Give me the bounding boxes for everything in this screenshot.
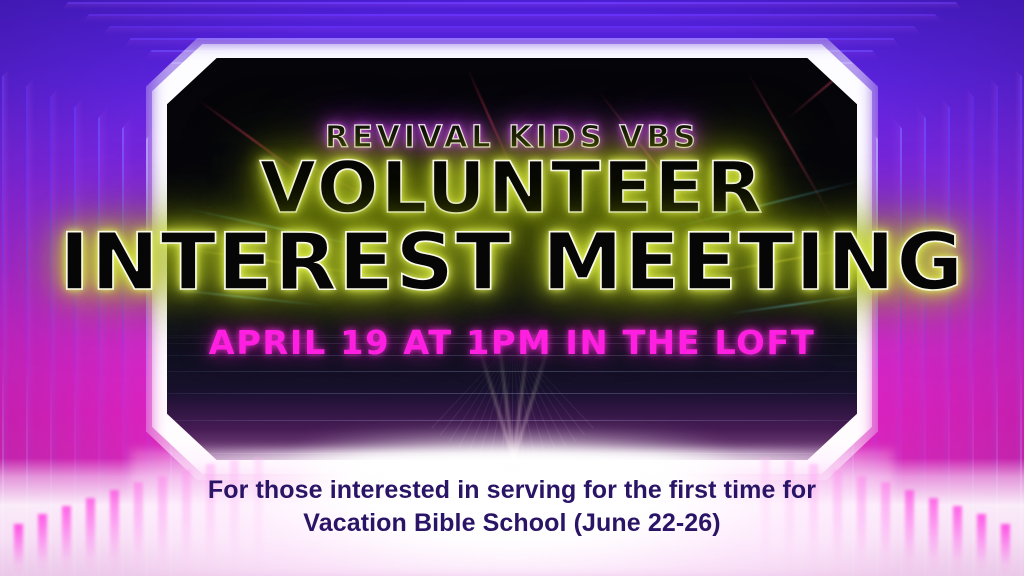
event-datetime-text: APRIL 19 AT 1PM IN THE LOFT	[0, 323, 1024, 362]
footnote-block: For those interested in serving for the …	[0, 474, 1024, 540]
footnote-line-1: For those interested in serving for the …	[0, 474, 1024, 507]
headline-line-2: INTEREST MEETING	[0, 226, 1024, 301]
headline-block: REVIVAL KIDS VBS VOLUNTEER INTEREST MEET…	[0, 120, 1024, 362]
headline-text: VOLUNTEER INTEREST MEETING	[0, 155, 1024, 301]
headline-line-1: VOLUNTEER	[0, 155, 1024, 222]
footnote-line-2: Vacation Bible School (June 22-26)	[0, 507, 1024, 540]
poster-canvas: REVIVAL KIDS VBS VOLUNTEER INTEREST MEET…	[0, 0, 1024, 576]
